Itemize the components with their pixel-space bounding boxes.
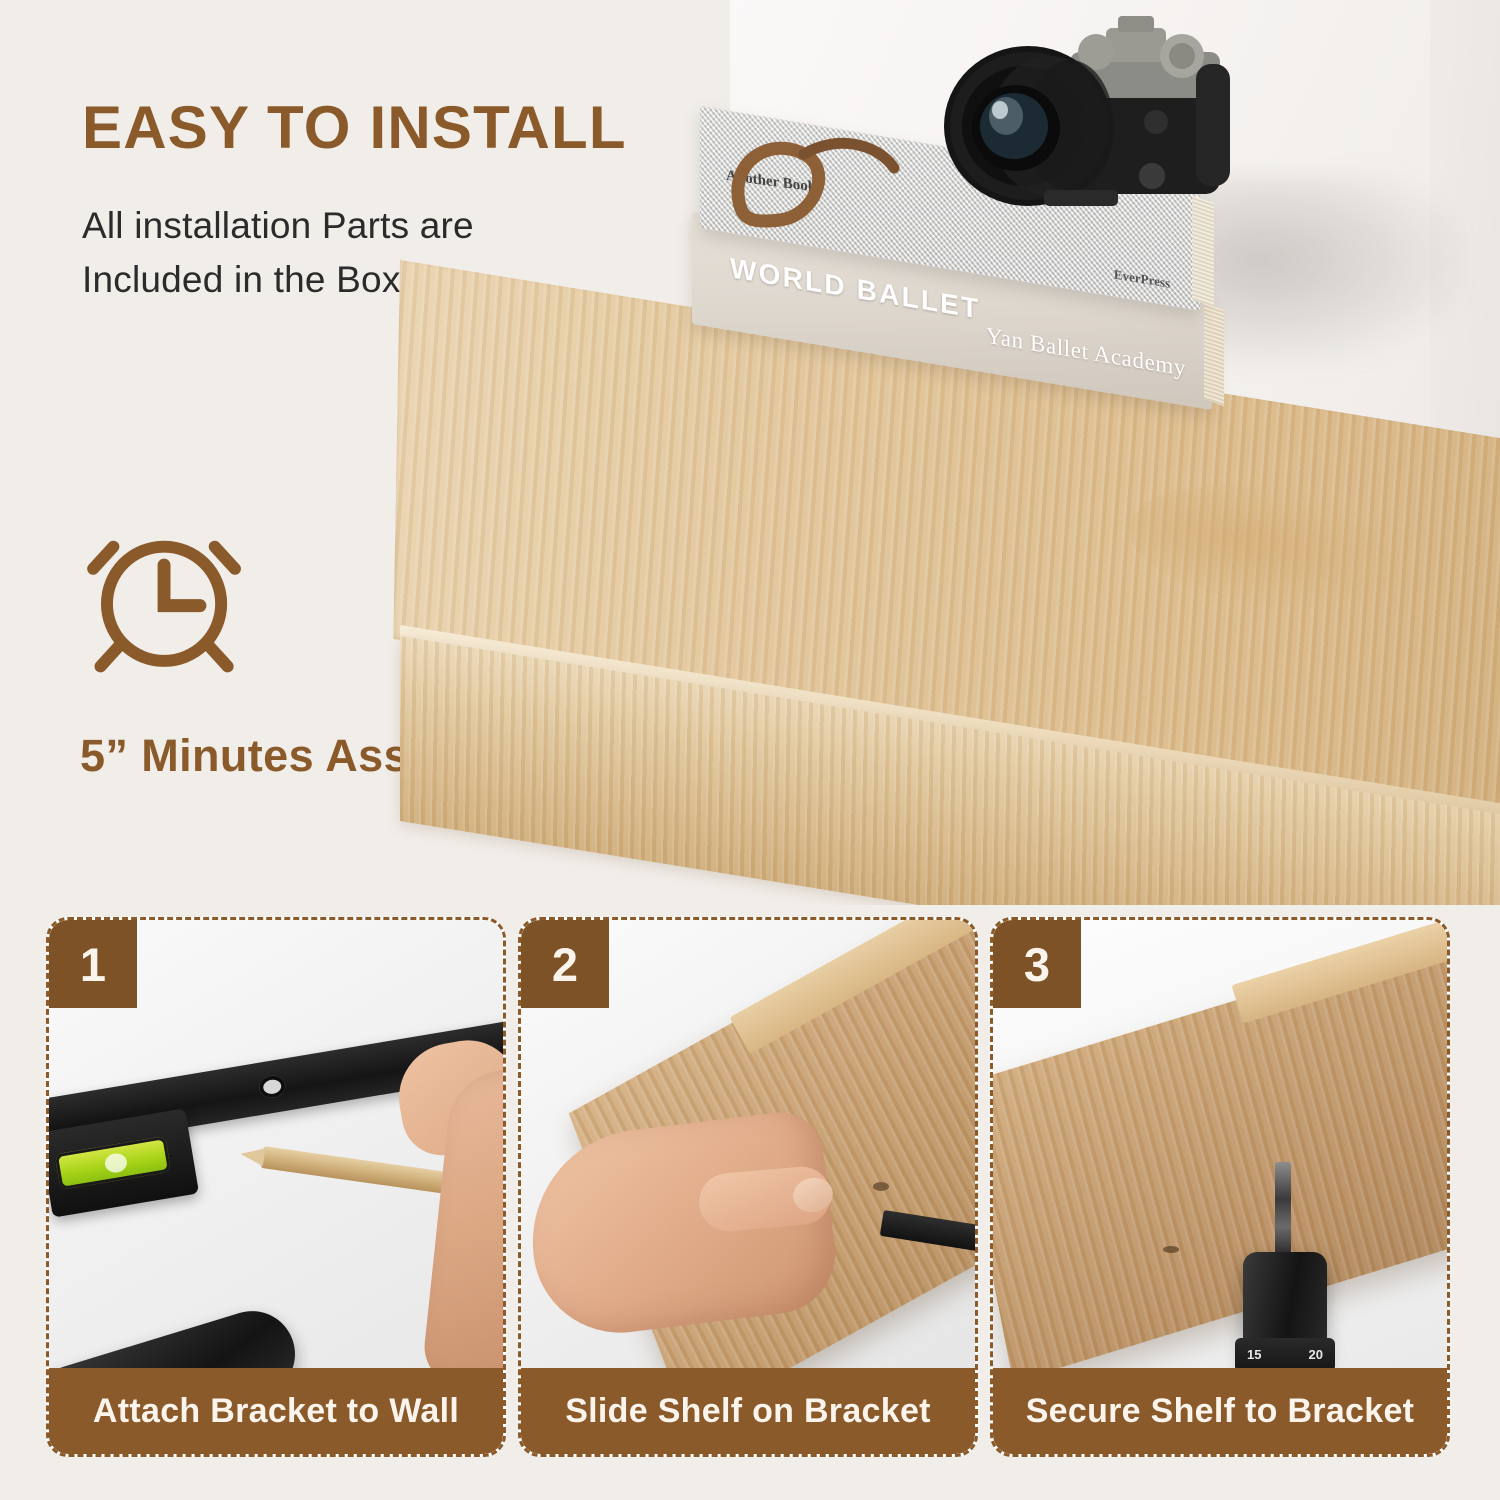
book-page-block — [1204, 303, 1224, 407]
drill-mark-20: 20 — [1309, 1347, 1323, 1362]
drill-bit — [1275, 1162, 1291, 1254]
step-card-2[interactable]: 2 Slide Shelf on Bracket — [518, 917, 978, 1457]
step-number-badge: 1 — [49, 920, 137, 1008]
bracket-screw-hole — [258, 1074, 287, 1100]
step-card-1[interactable]: 1 Attach Bracket to Wall — [46, 917, 506, 1457]
level-bubble — [104, 1152, 129, 1174]
infographic-page: EASY TO INSTALL All installation Parts a… — [0, 0, 1500, 1500]
mirrorless-camera — [920, 0, 1250, 244]
book-subtitle: Yan Ballet Academy — [986, 323, 1186, 382]
hero-section: EASY TO INSTALL All installation Parts a… — [0, 0, 1500, 905]
step-caption: Slide Shelf on Bracket — [521, 1368, 975, 1454]
step-caption: Secure Shelf to Bracket — [993, 1368, 1447, 1454]
drill-mark-15: 15 — [1247, 1347, 1261, 1362]
shelf-screw-hole — [1163, 1246, 1179, 1253]
product-photo-scene: WORLD BALLET Yan Ballet Academy Another … — [400, 0, 1500, 905]
pencil-tip — [239, 1145, 265, 1166]
level-vial — [55, 1136, 171, 1190]
step-number-badge: 2 — [521, 920, 609, 1008]
camera-strap — [718, 110, 928, 240]
step-caption: Attach Bracket to Wall — [49, 1368, 503, 1454]
installation-steps: 1 Attach Bracket to Wall 2 Slide Shelf o… — [0, 905, 1500, 1500]
alarm-clock-icon — [78, 508, 278, 688]
shelf-screw-hole-1 — [873, 1182, 889, 1191]
drill-torque-markings: 15 20 — [1241, 1347, 1329, 1362]
book-upper-brand: EverPress — [1114, 267, 1170, 292]
step-card-3[interactable]: 15 20 3 Secure Shelf to Bracket — [990, 917, 1450, 1457]
step-number-badge: 3 — [993, 920, 1081, 1008]
